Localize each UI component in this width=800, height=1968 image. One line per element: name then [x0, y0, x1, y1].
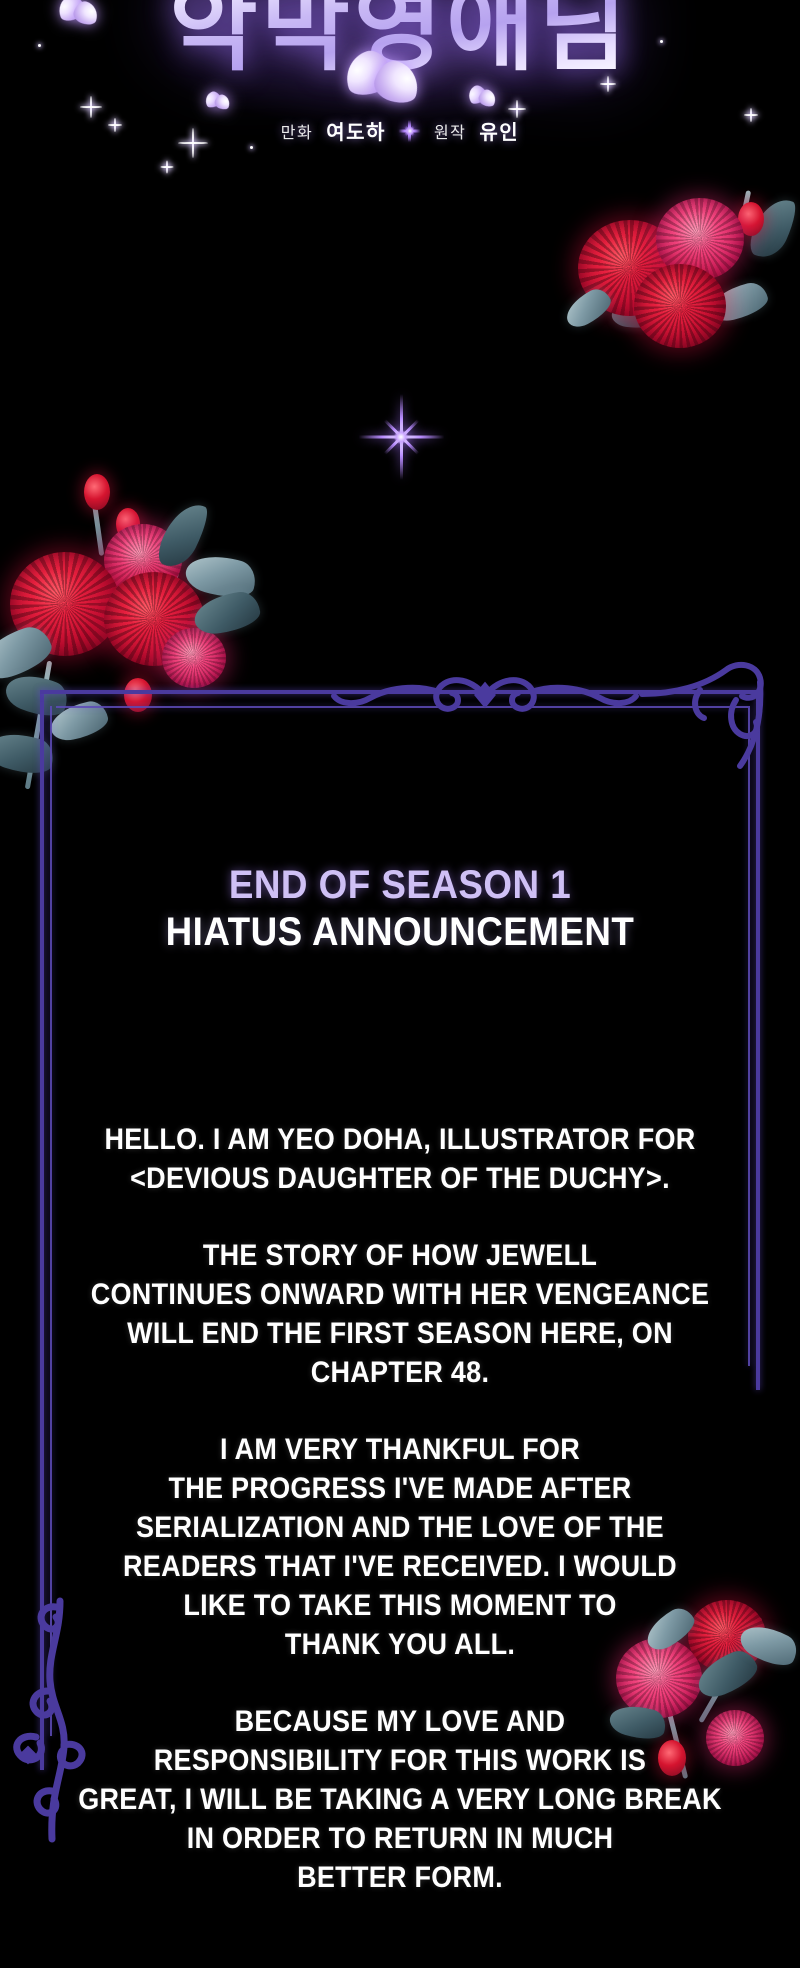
announcement-paragraph-4: BECAUSE MY LOVE ANDRESPONSIBILITY FOR TH…	[40, 1702, 760, 1897]
manhwa-label: 만화	[281, 119, 313, 143]
butterfly-icon-right	[468, 86, 498, 112]
frame-top-rule-outer	[40, 690, 760, 694]
headline-line-2: HIATUS ANNOUNCEMENT	[32, 909, 768, 956]
announcement-paragraph-1: HELLO. I AM YEO DOHA, ILLUSTRATOR FOR<DE…	[40, 1120, 760, 1198]
title-area: 악막영애님 만화 여도하	[0, 0, 800, 190]
carnation-flower-cluster-left	[0, 490, 300, 820]
sparkle-icon-4	[160, 160, 173, 173]
ornamental-frame-corner-top-right	[640, 656, 772, 776]
original-label: 원작	[434, 119, 466, 143]
credits-line: 만화 여도하 원작 유인	[0, 116, 800, 145]
announcement-body: HELLO. I AM YEO DOHA, ILLUSTRATOR FOR<DE…	[40, 1120, 760, 1897]
author-name: 유인	[479, 116, 519, 145]
webtoon-announcement-page: 악막영애님 만화 여도하	[0, 0, 800, 1968]
butterfly-icon-small	[205, 92, 231, 114]
announcement-headline: END OF SEASON 1 HIATUS ANNOUNCEMENT	[32, 862, 768, 956]
headline-line-1: END OF SEASON 1	[32, 862, 768, 909]
ornamental-frame-top-flourish	[330, 662, 640, 726]
artist-name: 여도하	[326, 116, 386, 145]
carnation-flower-cluster-top-right	[560, 190, 800, 370]
sparkle-icon-1	[80, 96, 102, 118]
announcement-paragraph-3: I AM VERY THANKFUL FORTHE PROGRESS I'VE …	[40, 1430, 760, 1664]
sparkle-star-icon	[399, 120, 421, 142]
series-title-korean: 악막영애님	[0, 0, 800, 79]
sparkle-dot-2	[250, 146, 253, 149]
announcement-paragraph-2: THE STORY OF HOW JEWELLCONTINUES ONWARD …	[40, 1236, 760, 1392]
eight-point-star-icon	[358, 394, 444, 480]
frame-top-rule-inner	[56, 706, 748, 708]
